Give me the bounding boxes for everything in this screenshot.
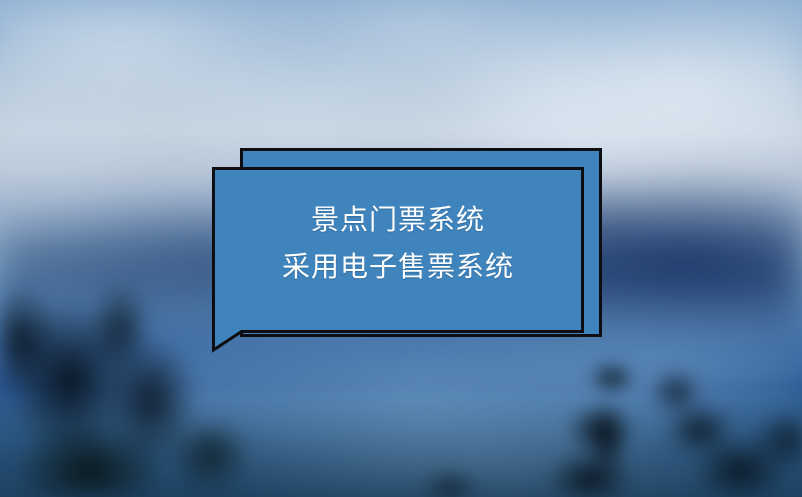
bubble-text-block: 景点门票系统 采用电子售票系统 [212,196,584,290]
bubble-headline-line-1: 景点门票系统 [212,196,584,243]
speech-bubble-callout: 景点门票系统 采用电子售票系统 [0,0,802,497]
bubble-headline-line-2: 采用电子售票系统 [212,243,584,290]
screenshot-canvas: 景点门票系统 采用电子售票系统 [0,0,802,497]
